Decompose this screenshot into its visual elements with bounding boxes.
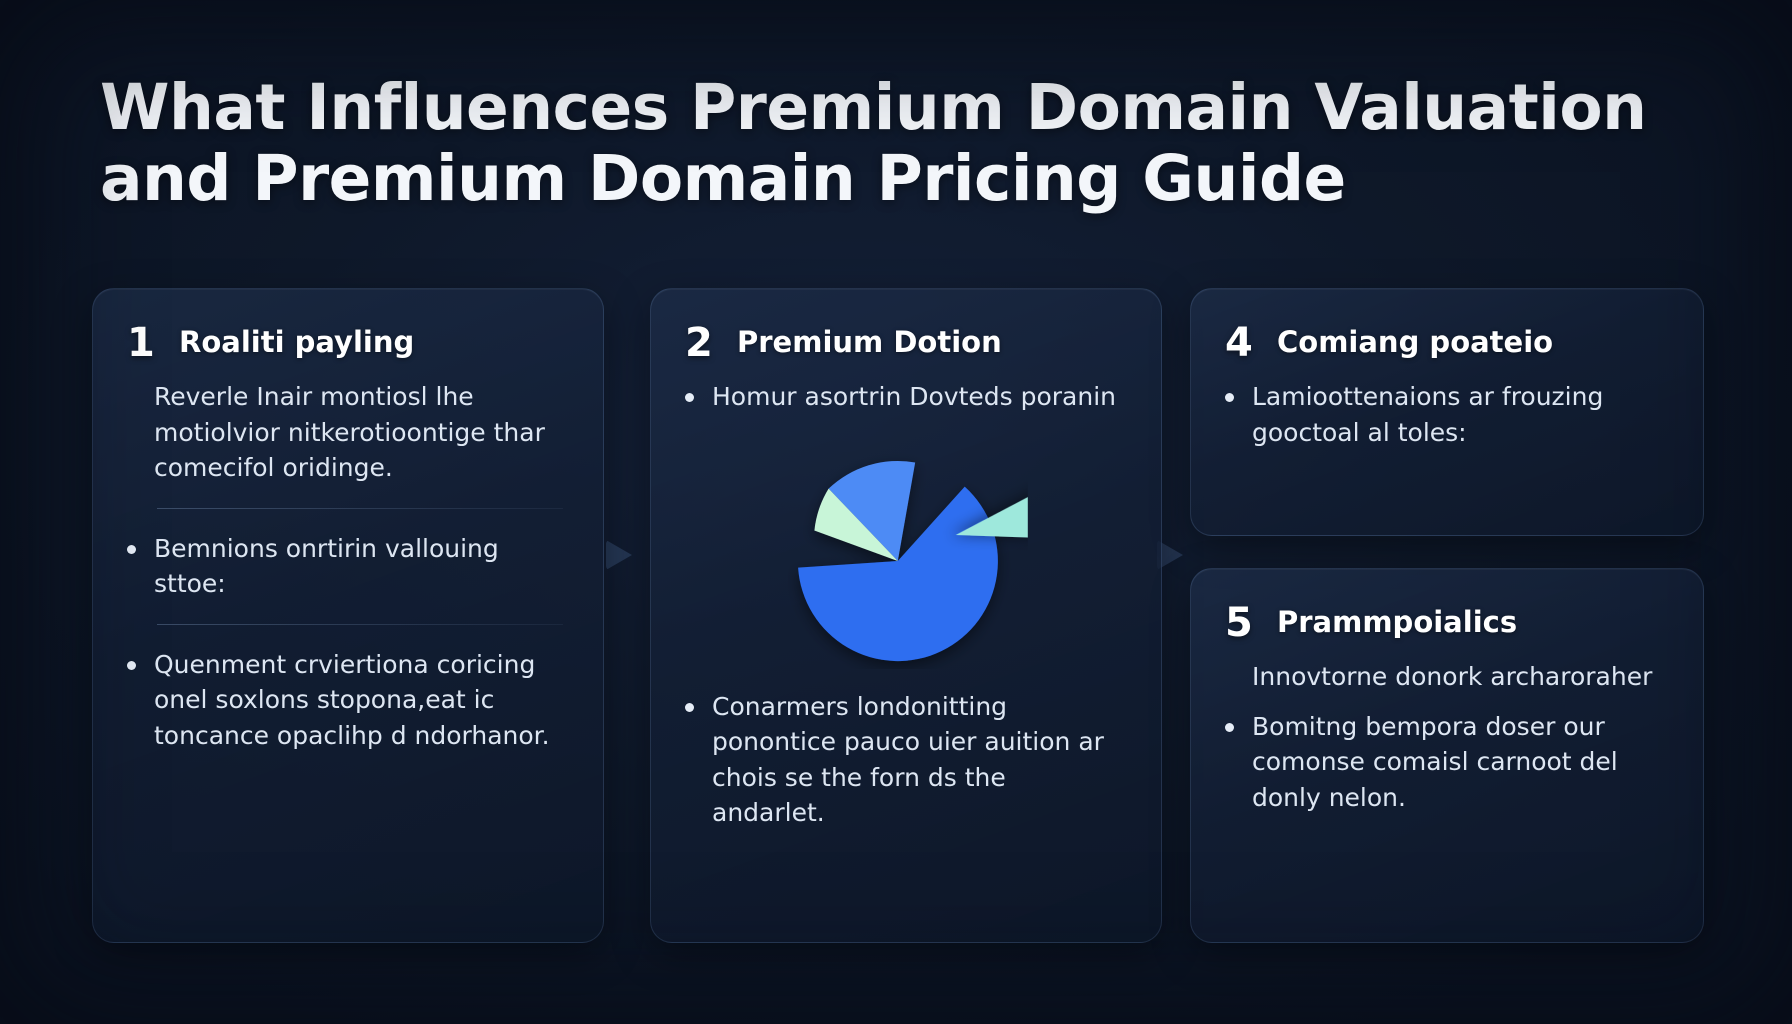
pie-slices [788,440,1028,669]
card-2-title: Premium Dotion [737,323,1002,358]
card-5-header: 5 Prammpoialics [1225,603,1663,643]
infographic-canvas: What Influences Premium Domain Valuation… [0,0,1792,1024]
pie-chart [685,429,1121,679]
card-4[interactable]: 4 Comiang poateio Lamioottenaions ar fro… [1190,288,1704,536]
card-5-number: 5 [1225,603,1255,643]
card-1-title: Roaliti payling [179,323,414,358]
card-2-bullet-1-text: Homur asortrin Dovteds poranin [712,379,1121,415]
page-title: What Influences Premium Domain Valuation… [100,72,1700,214]
connector-notch-left [606,540,632,570]
card-2-bullet-1: Homur asortrin Dovteds poranin [685,379,1121,415]
card-1-header: 1 Roaliti payling [127,323,563,363]
page-title-line-2: and Premium Domain Pricing Guide [100,143,1700,214]
card-5-bullet-2-text: Bomitng bempora doser our comonse comais… [1252,709,1663,816]
card-5-bullets: Innovtorne donork archaroraher Bomitng b… [1225,659,1663,815]
card-2-bullets-top: Homur asortrin Dovteds poranin [685,379,1121,415]
card-grid: 1 Roaliti payling Reverle Inair montiosl… [92,288,1704,948]
card-1-divider-2 [157,624,563,625]
card-2-header: 2 Premium Dotion [685,323,1121,363]
card-5-bullet-1: Innovtorne donork archaroraher [1225,659,1663,695]
card-1-bullet-2: Bemnions onrtirin vallouing sttoe: [127,531,563,602]
card-4-header: 4 Comiang poateio [1225,323,1663,363]
card-1-bullet-1: Reverle Inair montiosl lhe motiolvior ni… [127,379,563,486]
card-2[interactable]: 2 Premium Dotion Homur asortrin Dovteds … [650,288,1162,943]
card-1-bullet-2-text: Bemnions onrtirin vallouing sttoe: [154,531,563,602]
card-4-bullet-1-text: Lamioottenaions ar frouzing gooctoal al … [1252,379,1663,450]
bullet-dot-icon [127,545,136,554]
page-title-line-1: What Influences Premium Domain Valuation [100,72,1700,143]
bullet-dot-icon [1225,393,1234,402]
card-2-bullet-2-text: Conarmers londonitting ponontice pauco u… [712,689,1121,831]
card-2-number: 2 [685,323,715,363]
bullet-dot-icon [685,393,694,402]
card-5-title: Prammpoialics [1277,603,1517,638]
pie-chart-svg [788,429,1028,669]
card-1-bullet-3-text: Quenment crviertiona coricing onel soxlo… [154,647,563,754]
card-4-number: 4 [1225,323,1255,363]
card-1-bullet-3: Quenment crviertiona coricing onel soxlo… [127,647,563,754]
card-5-bullet-2: Bomitng bempora doser our comonse comais… [1225,709,1663,816]
card-4-bullets: Lamioottenaions ar frouzing gooctoal al … [1225,379,1663,450]
card-5-bullet-1-text: Innovtorne donork archaroraher [1252,659,1663,695]
bullet-dot-icon [127,661,136,670]
card-4-bullet-1: Lamioottenaions ar frouzing gooctoal al … [1225,379,1663,450]
card-1-number: 1 [127,323,157,363]
card-1[interactable]: 1 Roaliti payling Reverle Inair montiosl… [92,288,604,943]
card-4-title: Comiang poateio [1277,323,1553,358]
card-2-bullets-bottom: Conarmers londonitting ponontice pauco u… [685,689,1121,831]
card-1-bullets: Reverle Inair montiosl lhe motiolvior ni… [127,379,563,753]
bullet-dot-icon [685,703,694,712]
card-1-divider-1 [157,508,563,509]
bullet-dot-icon [1225,723,1234,732]
card-5[interactable]: 5 Prammpoialics Innovtorne donork archar… [1190,568,1704,943]
card-2-bullet-2: Conarmers londonitting ponontice pauco u… [685,689,1121,831]
card-1-bullet-1-text: Reverle Inair montiosl lhe motiolvior ni… [154,379,563,486]
